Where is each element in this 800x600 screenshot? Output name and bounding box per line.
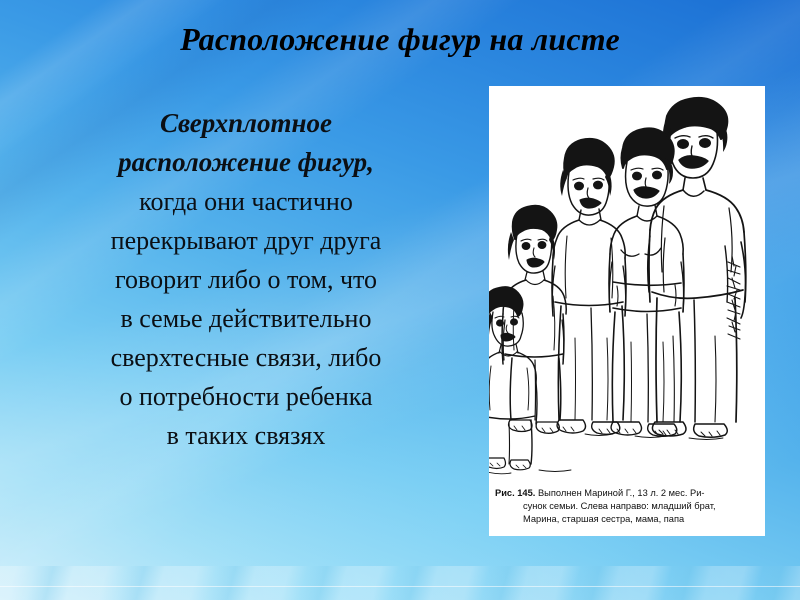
figure-number-label: Рис. 145. <box>495 488 535 498</box>
slide-title: Расположение фигур на листе <box>0 21 800 58</box>
figure-caption: Рис. 145. Выполнен Мариной Г., 13 л. 2 м… <box>489 487 765 526</box>
bottom-divider-line <box>0 586 800 587</box>
body-lead-line-1: Сверхплотное <box>26 104 466 143</box>
figure-panel: Рис. 145. Выполнен Мариной Г., 13 л. 2 м… <box>489 86 765 536</box>
body-line-2: перекрывают друг друга <box>26 221 466 260</box>
caption-line-2: сунок семьи. Слева направо: младший брат… <box>495 500 757 513</box>
slide-canvas: Расположение фигур на листе Сверхплотное… <box>0 0 800 600</box>
body-line-4: в семье действительно <box>26 299 466 338</box>
body-lead-text: Сверхплотное расположение фигур, <box>26 104 466 182</box>
body-line-1: когда они частично <box>26 182 466 221</box>
body-lead-line-2: расположение фигур, <box>26 143 466 182</box>
body-line-7: в таких связях <box>26 416 466 455</box>
body-line-6: о потребности ребенка <box>26 377 466 416</box>
body-text-block: Сверхплотное расположение фигур, когда о… <box>26 104 466 455</box>
caption-line-1: Выполнен Мариной Г., 13 л. 2 мес. Ри- <box>538 488 705 498</box>
body-line-5: сверхтесные связи, либо <box>26 338 466 377</box>
bottom-stripe-decoration <box>0 566 800 600</box>
family-drawing-image <box>489 86 765 478</box>
body-line-3: говорит либо о том, что <box>26 260 466 299</box>
caption-line-3: Марина, старшая сестра, мама, папа <box>495 513 757 526</box>
